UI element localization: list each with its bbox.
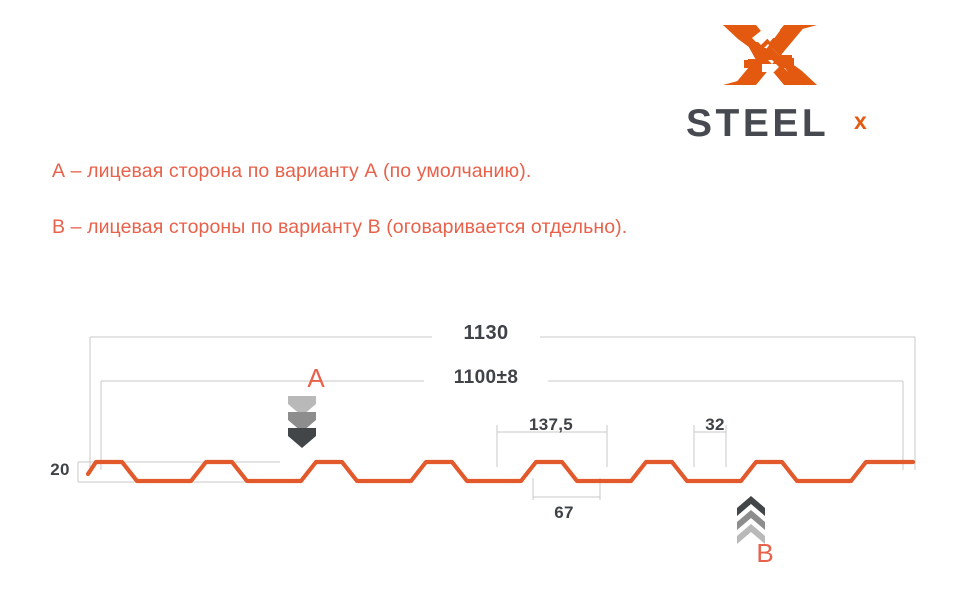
dimension-label-height: 20 (42, 460, 78, 480)
dimension-label-valley-width: 67 (514, 503, 614, 523)
variant-a-label: А (296, 363, 336, 394)
dimension-label-overall-width: 1130 (436, 322, 536, 345)
variant-b-chevrons (737, 496, 765, 544)
dimension-label-covering-width: 1100±8 (426, 367, 546, 389)
dimension-label-wave-pitch: 137,5 (496, 415, 606, 435)
variant-a-chevrons (288, 396, 316, 448)
dimension-label-crest-width: 32 (675, 415, 755, 435)
profile-drawing (0, 0, 970, 597)
variant-b-label: В (745, 538, 785, 569)
corrugated-profile-path (88, 462, 913, 481)
chevron-a-3 (288, 428, 316, 448)
